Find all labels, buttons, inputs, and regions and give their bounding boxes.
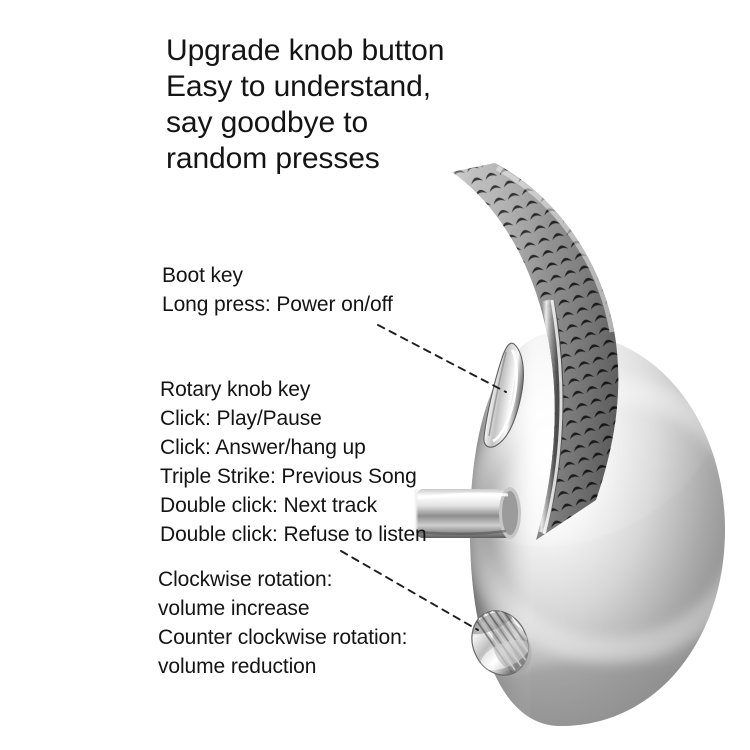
callout-boot-key-line-2: Long press: Power on/off [162, 290, 393, 319]
page-title: Upgrade knob button Easy to understand, … [166, 33, 566, 177]
callout-rotary-line-5: Double click: Next track [160, 491, 427, 520]
callout-rotation-line-2: volume increase [158, 594, 407, 623]
callout-rotary-line-3: Click: Answer/hang up [160, 433, 427, 462]
callout-rotation-line-1: Clockwise rotation: [158, 565, 407, 594]
callout-rotation-line-3: Counter clockwise rotation: [158, 623, 407, 652]
callout-rotary-line-4: Triple Strike: Previous Song [160, 462, 427, 491]
callout-rotary-knob-key: Rotary knob key Click: Play/Pause Click:… [160, 375, 427, 549]
callout-rotation: Clockwise rotation: volume increase Coun… [158, 565, 407, 681]
support-arm [416, 487, 521, 539]
callout-boot-key-line-1: Boot key [162, 261, 393, 290]
callout-rotation-line-4: volume reduction [158, 652, 407, 681]
callout-rotary-line-6: Double click: Refuse to listen [160, 520, 427, 549]
callout-rotary-line-2: Click: Play/Pause [160, 404, 427, 433]
callout-rotary-line-1: Rotary knob key [160, 375, 427, 404]
product-feature-infographic: Upgrade knob button Easy to understand, … [0, 0, 750, 750]
callout-boot-key: Boot key Long press: Power on/off [162, 261, 393, 319]
